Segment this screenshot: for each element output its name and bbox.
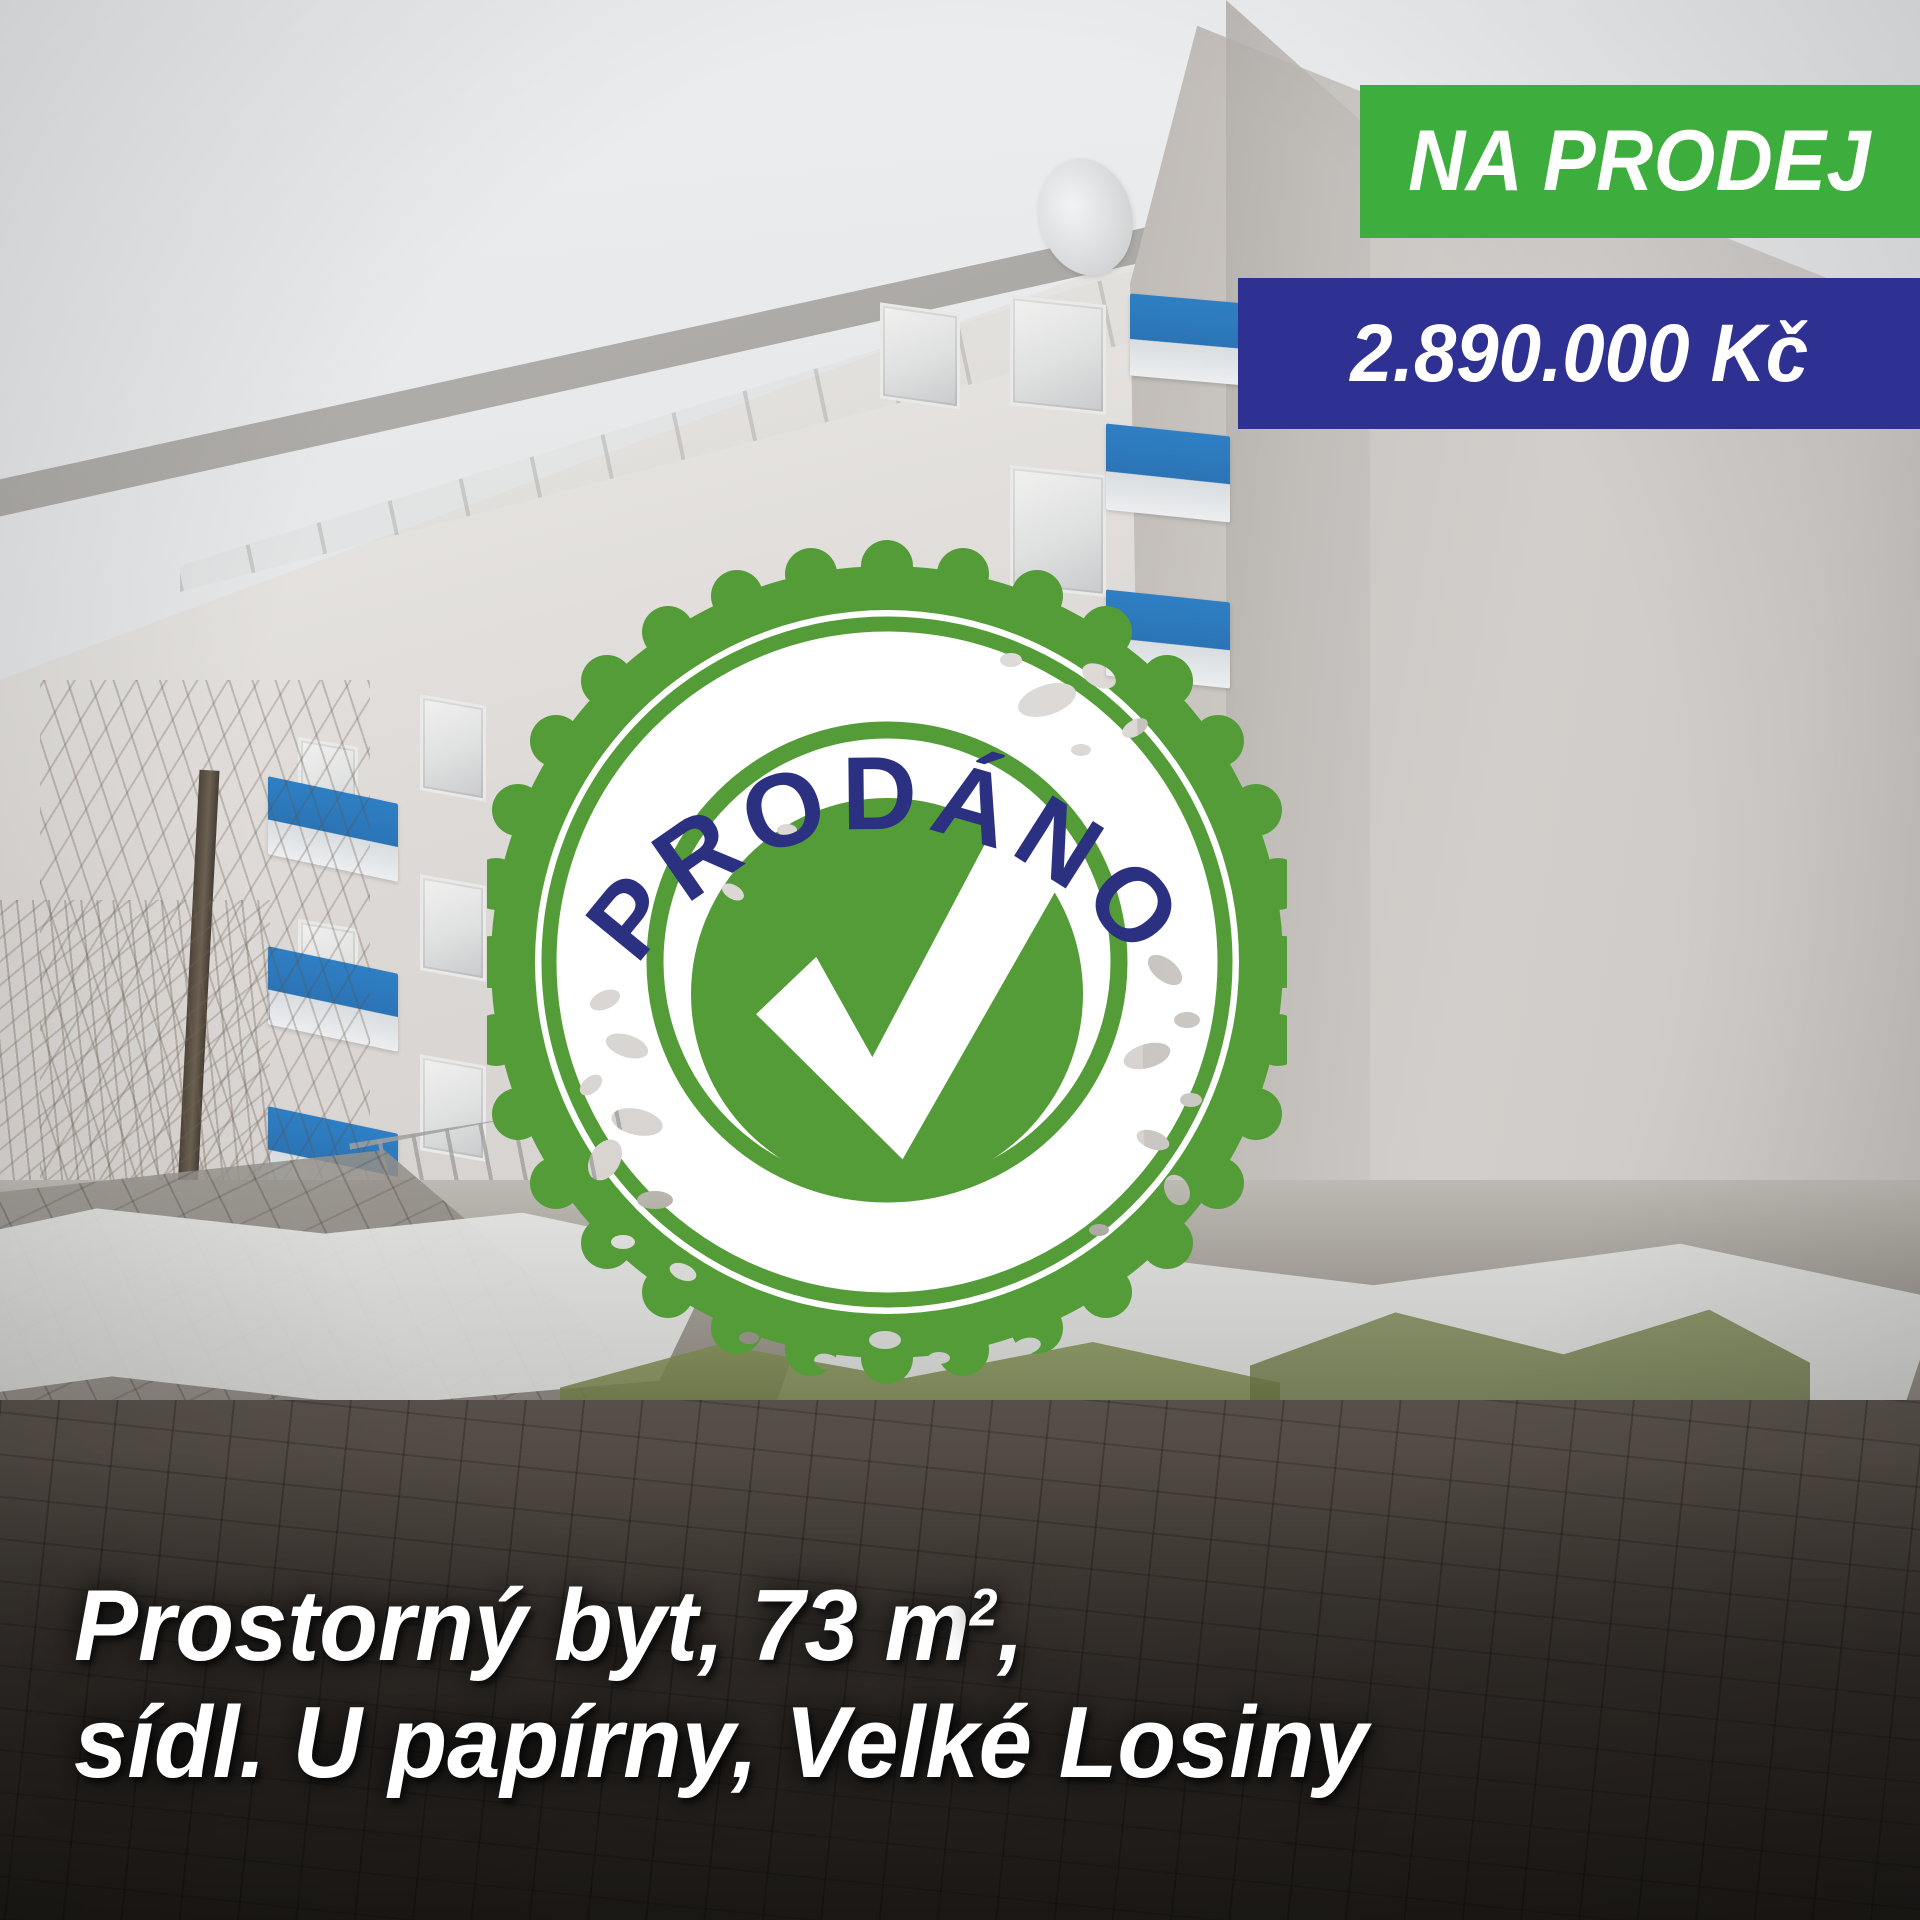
- status-badge: NA PRODEJ: [1360, 85, 1920, 238]
- window: [880, 302, 960, 409]
- caption-superscript: 2: [970, 1578, 998, 1637]
- price-badge-label: 2.890.000 Kč: [1350, 307, 1808, 401]
- status-badge-label: NA PRODEJ: [1409, 112, 1872, 211]
- caption-line-1-suffix: ,: [998, 1570, 1025, 1682]
- window: [420, 874, 486, 982]
- property-listing-card: NA PRODEJ 2.890.000 Kč: [0, 0, 1920, 1920]
- window: [1010, 295, 1106, 415]
- sold-stamp: PRODÁNO: [487, 500, 1287, 1425]
- caption-line-1-text: Prostorný byt, 73 m: [74, 1570, 970, 1682]
- window: [420, 694, 486, 802]
- caption-line-2: sídl. U papírny, Velké Losiny: [74, 1685, 1423, 1802]
- listing-caption: Prostorný byt, 73 m2, sídl. U papírny, V…: [74, 1568, 1494, 1802]
- caption-line-1: Prostorný byt, 73 m2,: [74, 1568, 1423, 1685]
- price-badge: 2.890.000 Kč: [1238, 278, 1920, 429]
